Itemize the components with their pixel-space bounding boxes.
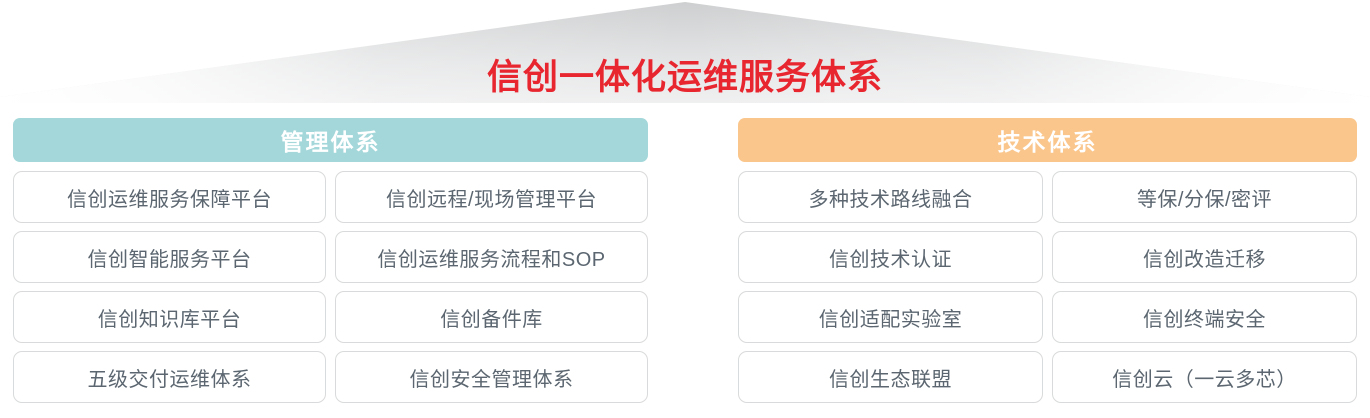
list-item[interactable]: 信创智能服务平台 <box>13 231 326 283</box>
list-item[interactable]: 多种技术路线融合 <box>738 171 1043 223</box>
group-technology: 技术体系 多种技术路线融合 等保/分保/密评 信创技术认证 信创改造迁移 信创适… <box>725 113 1370 418</box>
list-item[interactable]: 等保/分保/密评 <box>1052 171 1357 223</box>
group-header-technology: 技术体系 <box>738 118 1357 162</box>
list-item[interactable]: 信创远程/现场管理平台 <box>335 171 648 223</box>
list-item[interactable]: 信创运维服务流程和SOP <box>335 231 648 283</box>
group-management: 管理体系 信创运维服务保障平台 信创远程/现场管理平台 信创智能服务平台 信创运… <box>0 113 661 418</box>
list-item[interactable]: 信创改造迁移 <box>1052 231 1357 283</box>
page-title: 信创一体化运维服务体系 <box>0 56 1370 100</box>
group-divider <box>661 113 725 418</box>
list-item[interactable]: 五级交付运维体系 <box>13 351 326 403</box>
list-item[interactable]: 信创适配实验室 <box>738 291 1043 343</box>
list-item[interactable]: 信创备件库 <box>335 291 648 343</box>
group-grid-technology: 多种技术路线融合 等保/分保/密评 信创技术认证 信创改造迁移 信创适配实验室 … <box>725 171 1370 403</box>
list-item[interactable]: 信创技术认证 <box>738 231 1043 283</box>
list-item[interactable]: 信创知识库平台 <box>13 291 326 343</box>
list-item[interactable]: 信创运维服务保障平台 <box>13 171 326 223</box>
group-header-management: 管理体系 <box>13 118 648 162</box>
list-item[interactable]: 信创云（一云多芯） <box>1052 351 1357 403</box>
roof-banner: 信创一体化运维服务体系 <box>0 0 1370 112</box>
list-item[interactable]: 信创安全管理体系 <box>335 351 648 403</box>
list-item[interactable]: 信创生态联盟 <box>738 351 1043 403</box>
group-grid-management: 信创运维服务保障平台 信创远程/现场管理平台 信创智能服务平台 信创运维服务流程… <box>0 171 661 403</box>
pillars-container: 管理体系 信创运维服务保障平台 信创远程/现场管理平台 信创智能服务平台 信创运… <box>0 113 1370 418</box>
list-item[interactable]: 信创终端安全 <box>1052 291 1357 343</box>
